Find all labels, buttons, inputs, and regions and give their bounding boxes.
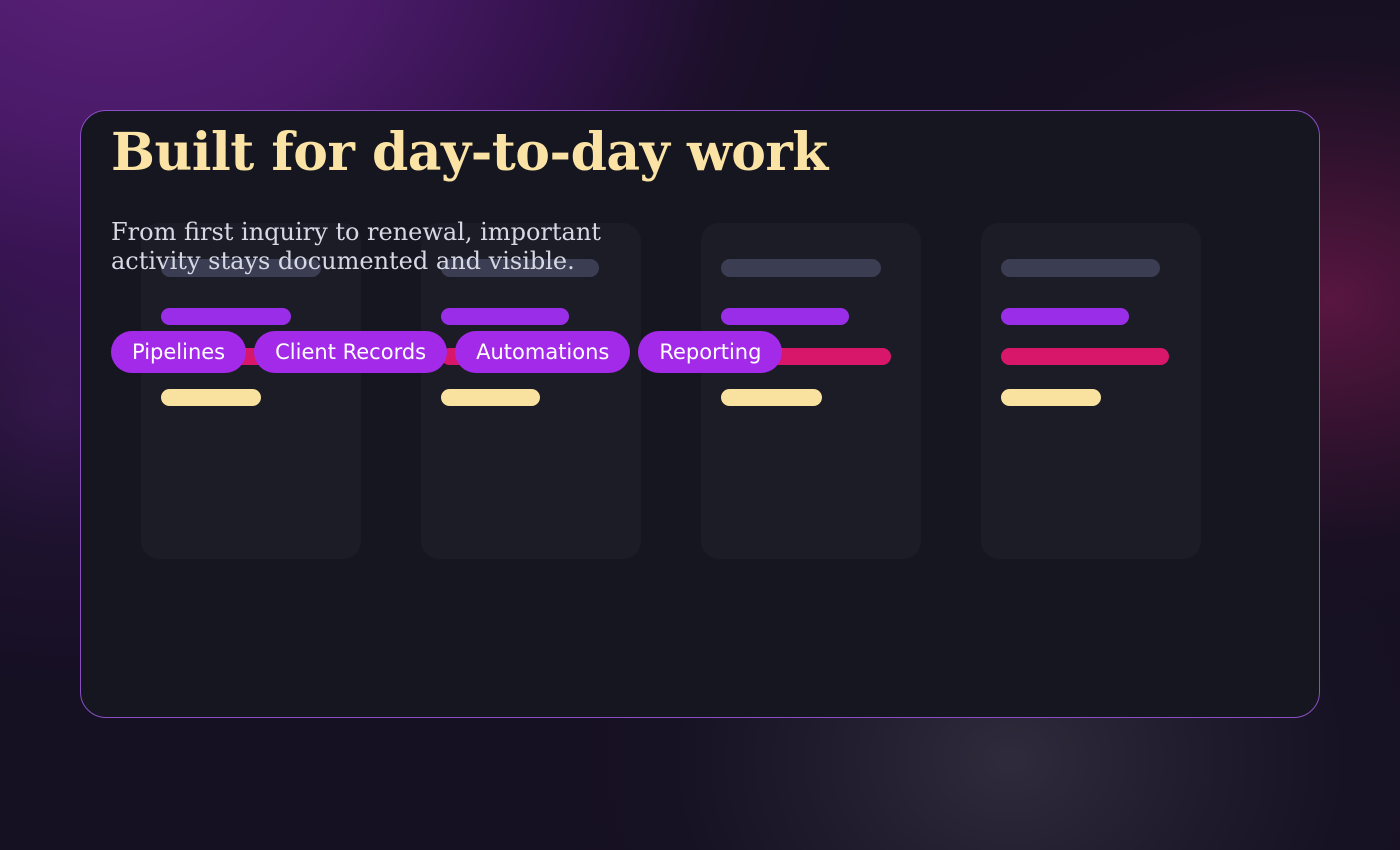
- page-subtitle: From first inquiry to renewal, important…: [111, 218, 611, 276]
- skeleton-bar-purple: [161, 308, 291, 325]
- skeleton-bar-purple: [441, 308, 569, 325]
- skeleton-bar-yellow: [1001, 389, 1101, 406]
- category-pill-client-records[interactable]: Client Records: [254, 331, 447, 373]
- page-title: Built for day-to-day work: [111, 125, 851, 180]
- skeleton-bar-yellow: [161, 389, 261, 406]
- skeleton-bar-yellow: [721, 389, 822, 406]
- category-pill-row: PipelinesClient RecordsAutomationsReport…: [111, 331, 782, 373]
- skeleton-bar-yellow: [441, 389, 540, 406]
- skeleton-bar-purple: [721, 308, 849, 325]
- skeleton-bar-gray: [1001, 259, 1160, 277]
- feature-panel: Built for day-to-day work From first inq…: [80, 110, 1320, 718]
- panel-copy: Built for day-to-day work From first inq…: [111, 125, 851, 276]
- skeleton-card-4: [981, 223, 1201, 559]
- skeleton-bar-pink: [1001, 348, 1169, 365]
- category-pill-pipelines[interactable]: Pipelines: [111, 331, 246, 373]
- category-pill-reporting[interactable]: Reporting: [638, 331, 782, 373]
- category-pill-automations[interactable]: Automations: [455, 331, 630, 373]
- skeleton-bar-purple: [1001, 308, 1129, 325]
